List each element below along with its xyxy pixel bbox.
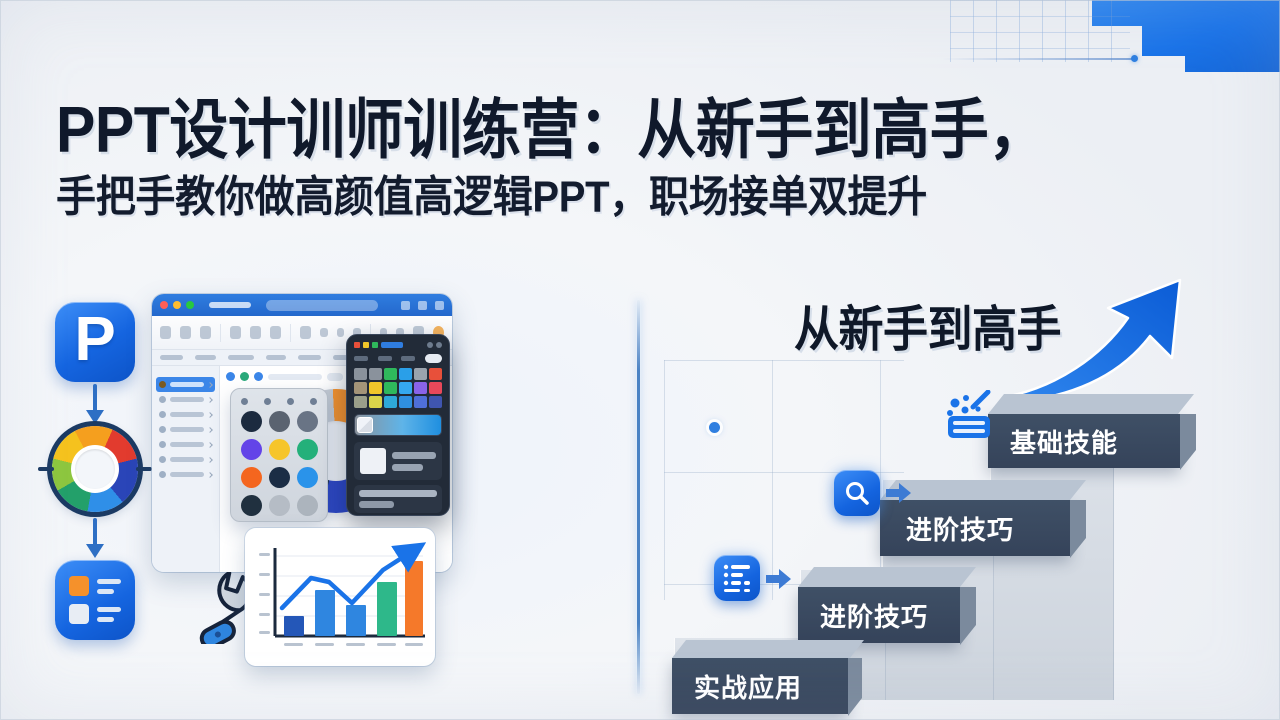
picker-close-icon[interactable] [436,342,442,348]
window-search-input[interactable] [266,300,378,311]
canvas-field[interactable] [268,374,322,380]
window-title-text [209,302,251,308]
arrow-down-icon-2 [55,516,150,560]
comments-icon[interactable] [418,301,427,310]
corner-accent-line [942,58,1132,60]
canvas-pill[interactable] [327,373,343,381]
picker-preview-swatch [360,448,386,474]
tab-insert[interactable] [195,355,216,360]
bar-0 [284,616,304,636]
slide-thumbnail-sidebar[interactable] [152,366,220,572]
swatch-10[interactable] [269,495,290,516]
poster-title: PPT设计训师训练营：从新手到高手， [56,96,1236,165]
step-block-1[interactable]: 实战应用 [672,640,848,714]
sidebar-item-slide-4[interactable] [156,422,215,437]
poster-canvas: PPT设计训师训练营：从新手到高手， 手把手教你做高颜值高逻辑PPT，职场接单双… [0,0,1280,720]
swatch-11[interactable] [297,495,318,516]
right-illustration-panel: 从新手到高手 基础技能 [652,282,1264,720]
shapes-icon[interactable] [320,328,328,337]
layout-lines-bottom [97,604,121,624]
close-icon[interactable] [160,301,168,309]
step-label-1: 实战应用 [672,658,848,714]
bar-1 [315,590,335,636]
slide-layout-icon[interactable] [55,560,135,640]
layout-lines-top [97,576,121,596]
swatch-4[interactable] [269,439,290,460]
tab-home[interactable] [160,355,183,360]
canvas-tool-2[interactable] [240,372,249,381]
swatch-1[interactable] [269,411,290,432]
center-divider [637,300,640,694]
step-block-4[interactable]: 基础技能 [988,394,1180,468]
layout-menu-icon[interactable] [250,326,261,339]
sidebar-item-slide-3[interactable] [156,407,215,422]
canvas-tool-1[interactable] [226,372,235,381]
bar-4 [405,561,423,636]
cut-icon[interactable] [180,326,191,339]
sparkle-card-icon[interactable] [942,390,998,449]
bar-chart-card [245,528,435,666]
new-slide-icon[interactable] [230,326,241,339]
search-magnifier-icon[interactable] [834,470,880,516]
grid-point-marker [709,422,720,433]
paste-icon[interactable] [160,326,171,339]
picker-footer [354,485,442,513]
sidebar-item-slide-2[interactable] [156,392,215,407]
powerpoint-app-icon[interactable]: P [55,302,135,382]
swatch-5[interactable] [297,439,318,460]
window-title-actions [401,301,444,310]
sidebar-item-slide-7[interactable] [156,467,215,482]
corner-grid-pattern [950,0,1130,62]
powerpoint-letter: P [74,309,115,371]
swatch-8[interactable] [297,467,318,488]
reset-icon[interactable] [270,326,281,339]
tab-transitions[interactable] [266,355,285,360]
step-label-4: 基础技能 [988,414,1180,468]
list-form-icon[interactable] [714,555,760,601]
left-illustration-panel: P [0,280,637,720]
corner-decoration [980,0,1280,95]
bar-chart-svg [253,538,427,658]
minimize-icon[interactable] [173,301,181,309]
format-painter-icon[interactable] [200,326,211,339]
tab-design[interactable] [228,355,254,360]
canvas-tool-3[interactable] [254,372,263,381]
picker-more-icon[interactable] [427,342,433,348]
swatch-6[interactable] [241,467,262,488]
swatch-3[interactable] [241,439,262,460]
bar-2 [346,605,366,636]
tab-animations[interactable] [298,355,321,360]
layout-block-accent [69,576,89,596]
swatch-panel-header [241,398,317,405]
swatch-0[interactable] [241,411,262,432]
sidebar-item-slide-1[interactable] [156,377,215,392]
step-block-2[interactable]: 进阶技巧 [798,567,960,643]
color-wheel-icon[interactable] [52,426,138,512]
arrow-down-icon-1 [55,382,150,426]
step-label-2: 进阶技巧 [798,587,960,643]
picker-gradient-bar[interactable] [354,414,442,436]
picker-toggle[interactable] [425,354,442,363]
window-titlebar [152,294,452,316]
picture-icon[interactable] [337,328,345,337]
bar-3 [377,582,397,636]
share-icon[interactable] [401,301,410,310]
poster-subtitle: 手把手教你做高颜值高逻辑PPT，职场接单双提升 [56,175,1236,222]
text-box-icon[interactable] [300,326,311,339]
dark-color-picker-panel[interactable] [346,334,450,516]
title-block: PPT设计训师训练营：从新手到高手， 手把手教你做高颜值高逻辑PPT，职场接单双… [56,96,1236,218]
corner-dot-marker [1131,55,1138,62]
help-icon[interactable] [435,301,444,310]
swatch-7[interactable] [269,467,290,488]
growth-arrow-icon [1004,274,1219,409]
picker-swatch-grid[interactable] [354,368,442,408]
picker-preview-block [354,442,442,480]
picker-header [354,342,442,348]
swatch-9[interactable] [241,495,262,516]
color-swatch-panel[interactable] [230,388,328,522]
step-label-3: 进阶技巧 [880,500,1070,556]
swatch-grid[interactable] [241,411,317,516]
sidebar-item-slide-6[interactable] [156,452,215,467]
picker-mini-preview [357,417,373,433]
maximize-icon[interactable] [186,301,194,309]
workflow-icon-column: P [55,302,150,640]
layout-block-plain [69,604,89,624]
picker-mode-row[interactable] [354,354,442,363]
sidebar-item-slide-5[interactable] [156,437,215,452]
swatch-2[interactable] [297,411,318,432]
